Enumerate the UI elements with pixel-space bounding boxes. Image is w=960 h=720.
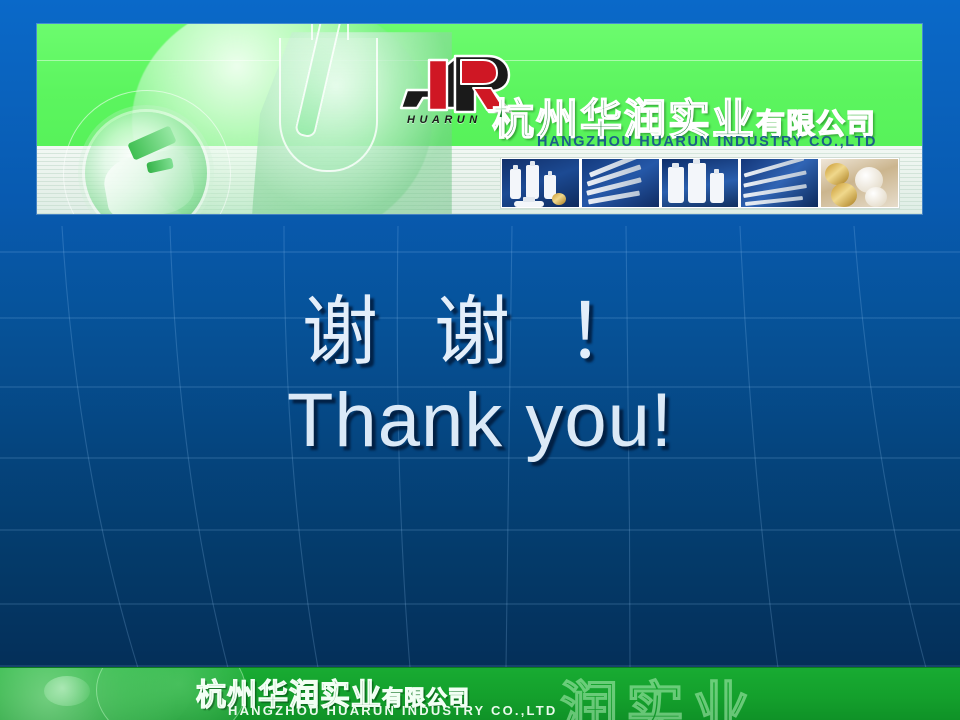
product-photo-amber-caps	[821, 159, 898, 207]
title-english: Thank you!	[0, 378, 960, 464]
logo-wordmark: HUARUN	[407, 114, 482, 126]
laboratory-photo	[37, 24, 457, 214]
footer-company-name-en: HANGZHOU HUARUN INDUSTRY CO.,LTD	[228, 703, 557, 718]
product-photo-spray-bottles	[502, 159, 579, 207]
product-photo-strip	[500, 157, 900, 209]
footer-orb-small-graphic	[44, 676, 90, 706]
product-photo-pipettes	[582, 159, 659, 207]
banner-company-name-en: HANGZHOU HUARUN INDUSTRY CO.,LTD	[537, 134, 877, 150]
title-chinese: 谢 谢 ！	[0, 286, 960, 378]
company-header-banner: HUARUN 杭州华润实业有限公司 HANGZHOU HUARUN INDUST…	[37, 24, 922, 214]
product-photo-syringes	[741, 159, 818, 207]
slide-canvas: HUARUN 杭州华润实业有限公司 HANGZHOU HUARUN INDUST…	[0, 0, 960, 720]
footer-watermark-text: 润实业	[560, 667, 758, 720]
product-photo-dropper-bottles	[662, 159, 739, 207]
thank-you-message: 谢 谢 ！ Thank you!	[0, 286, 960, 464]
company-footer-bar: 润实业 杭州华润实业有限公司 HANGZHOU HUARUN INDUSTRY …	[0, 667, 960, 720]
gloved-hand-graphic	[100, 147, 197, 214]
